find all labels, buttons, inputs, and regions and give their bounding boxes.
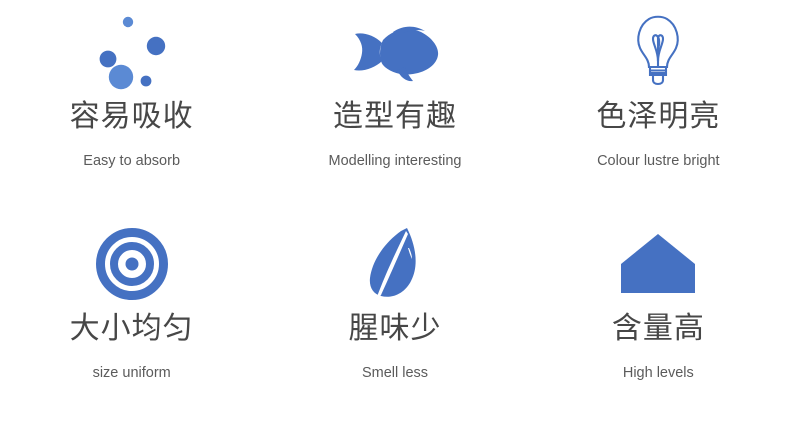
bubbles-dots-icon	[87, 6, 177, 96]
feature-title-cn: 含量高	[612, 310, 705, 348]
lightbulb-icon	[613, 6, 703, 96]
feature-grid: 容易吸收 Easy to absorb 造型有趣 Modelling inter…	[0, 0, 790, 432]
leaf-icon	[350, 222, 440, 306]
feature-card-smell-less: 腥味少 Smell less	[263, 216, 526, 432]
feature-title-cn: 容易吸收	[70, 98, 194, 136]
feature-title-cn: 腥味少	[348, 310, 441, 348]
feature-title-cn: 造型有趣	[333, 98, 457, 136]
feature-subtitle-en: Smell less	[362, 364, 428, 383]
feature-subtitle-en: Easy to absorb	[83, 152, 180, 171]
feature-title-cn: 色泽明亮	[596, 98, 720, 136]
house-pentagon-icon	[613, 222, 703, 306]
feature-subtitle-en: Modelling interesting	[328, 152, 461, 171]
feature-card-high-levels: 含量高 High levels	[527, 216, 790, 432]
feature-card-size-uniform: 大小均匀 size uniform	[0, 216, 263, 432]
feature-card-easy-to-absorb: 容易吸收 Easy to absorb	[0, 0, 263, 216]
feature-subtitle-en: High levels	[623, 364, 694, 383]
fish-icon	[350, 6, 440, 96]
target-bullseye-icon	[87, 222, 177, 306]
feature-card-colour-lustre-bright: 色泽明亮 Colour lustre bright	[527, 0, 790, 216]
feature-title-cn: 大小均匀	[70, 310, 194, 348]
feature-subtitle-en: Colour lustre bright	[597, 152, 720, 171]
feature-card-modelling-interesting: 造型有趣 Modelling interesting	[263, 0, 526, 216]
feature-subtitle-en: size uniform	[93, 364, 171, 383]
